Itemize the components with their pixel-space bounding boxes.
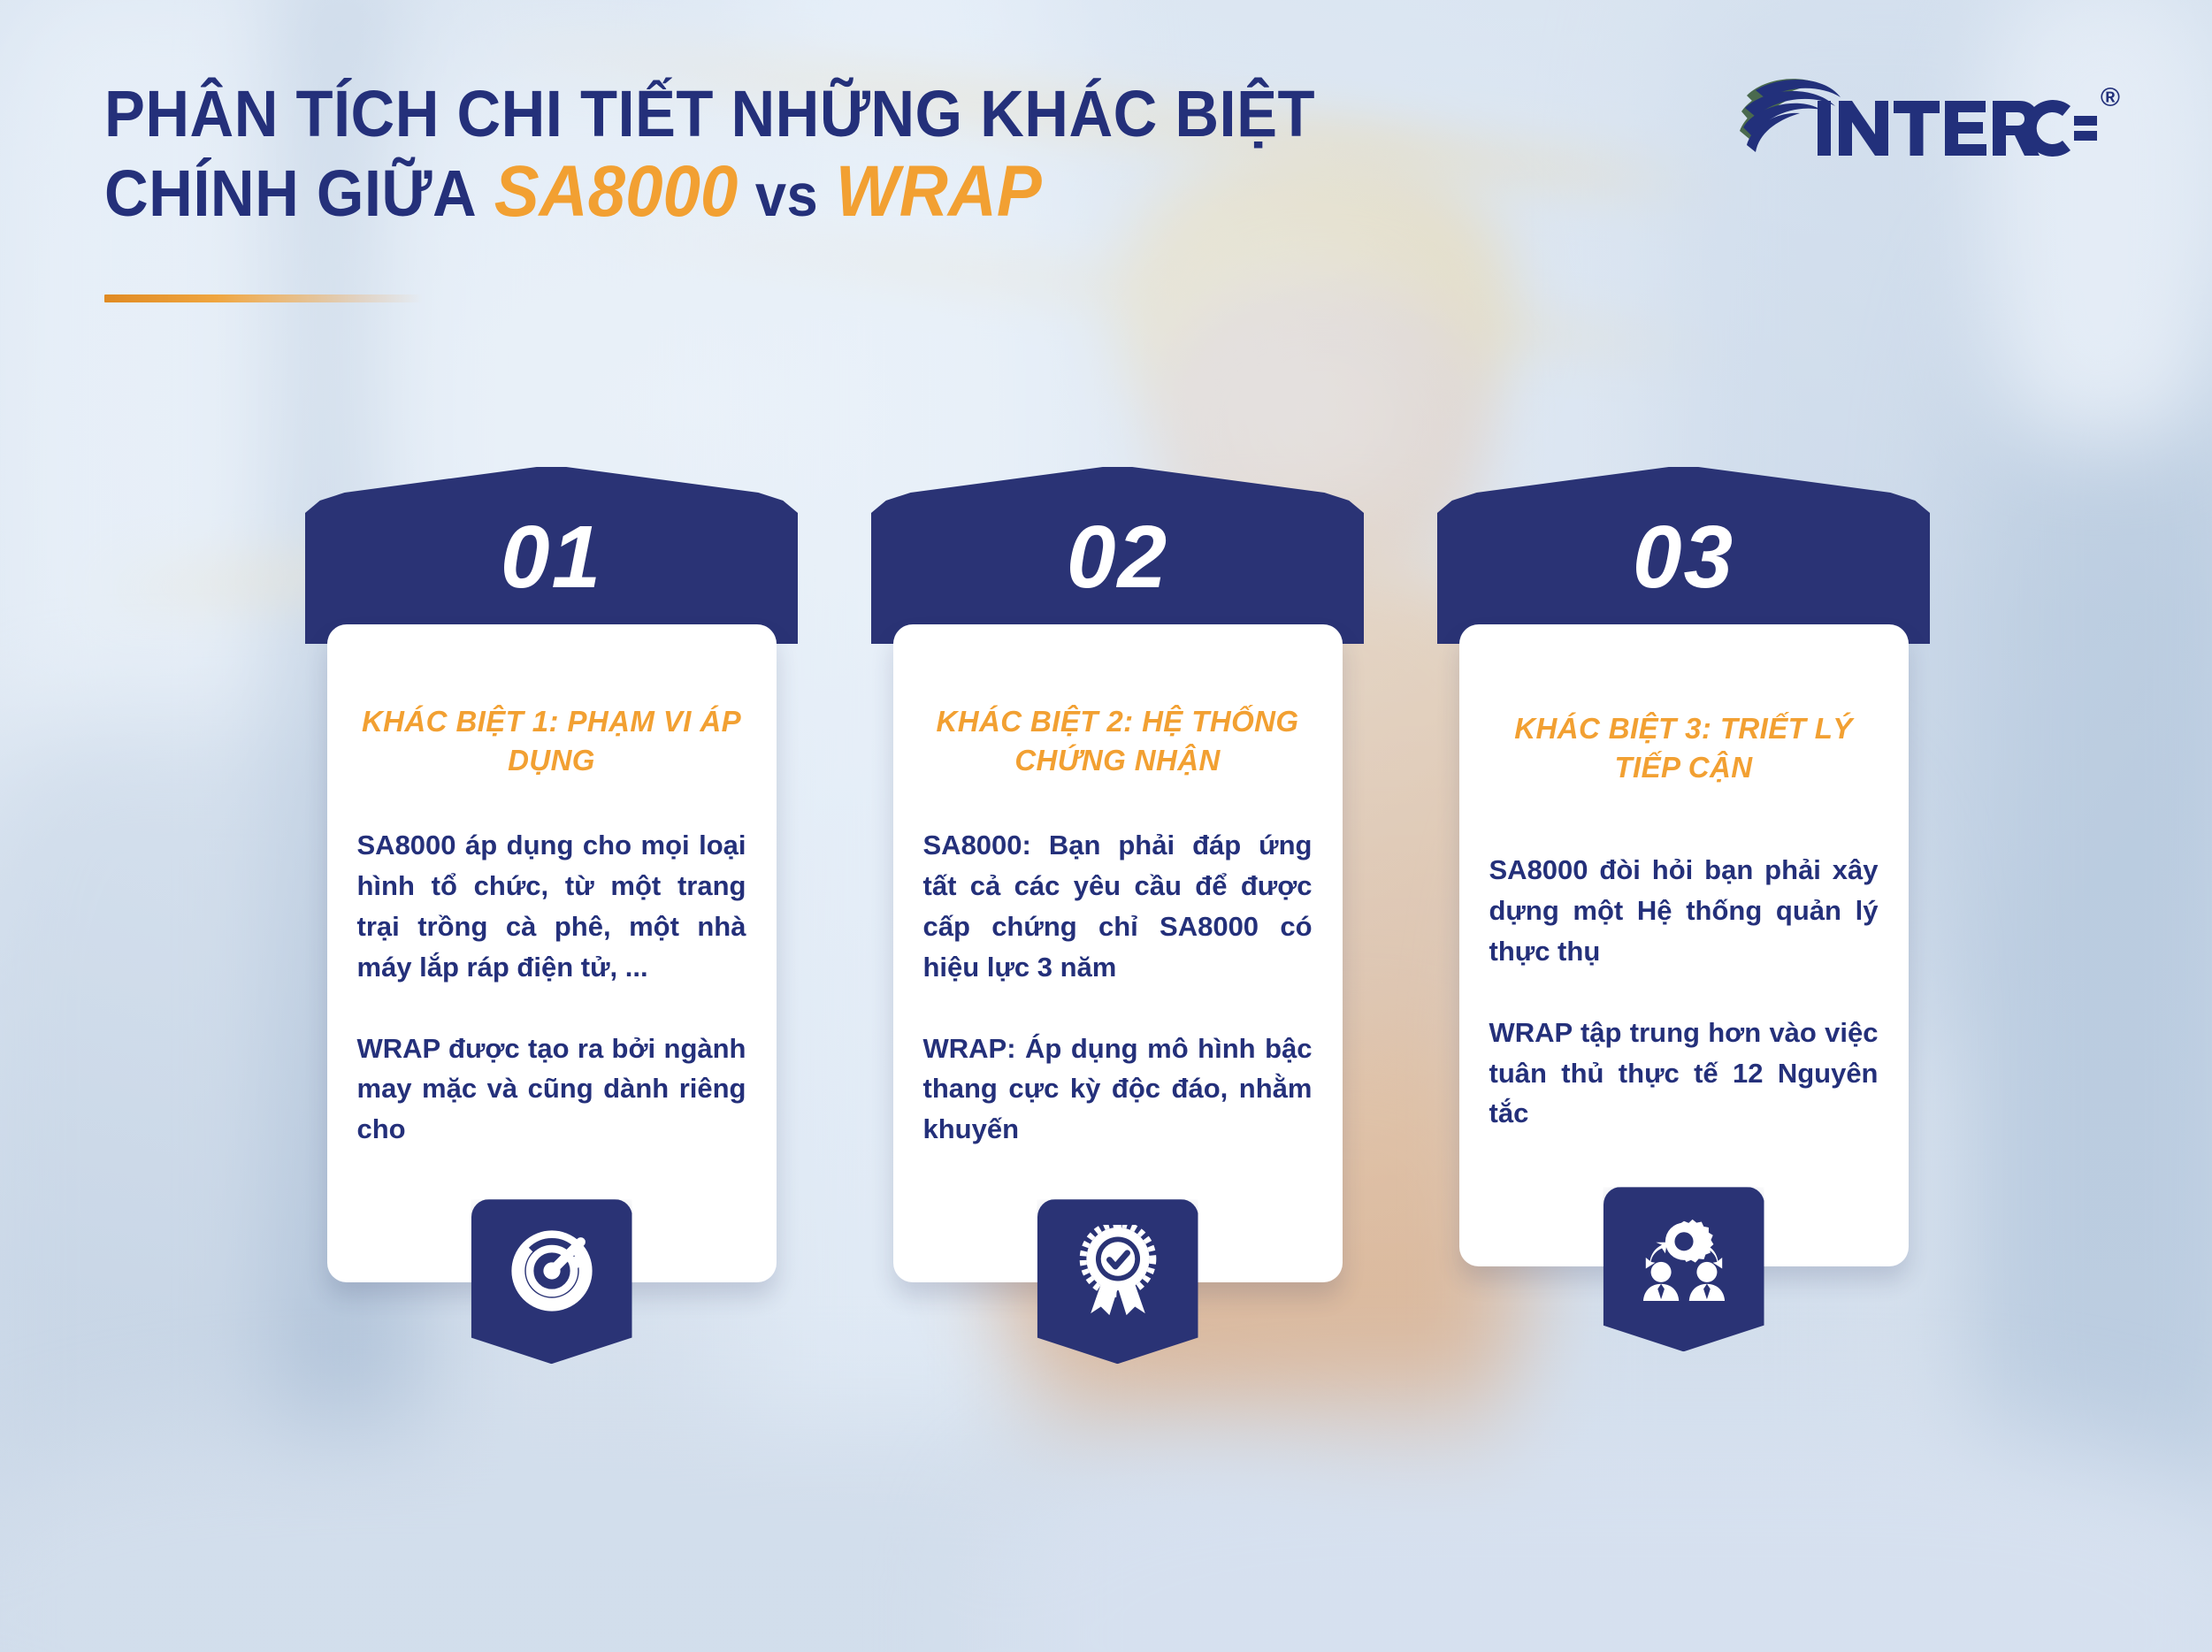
page-title-line-1: PHÂN TÍCH CHI TIẾT NHỮNG KHÁC BIỆT — [104, 78, 1974, 151]
award-ribbon-icon — [1075, 1225, 1161, 1317]
card-1-number: 01 — [305, 513, 798, 601]
standard-name-wrap: WRAP — [836, 151, 1042, 232]
card-3-body: KHÁC BIỆT 3: TRIẾT LÝ TIẾP CẬN SA8000 đò… — [1459, 624, 1909, 1266]
card-2-icon-badge — [1037, 1199, 1198, 1364]
card-1-paragraph-2: WRAP được tạo ra bởi ngành may mặc và cũ… — [357, 1029, 746, 1151]
card-3-title: KHÁC BIỆT 3: TRIẾT LÝ TIẾP CẬN — [1489, 709, 1879, 786]
card-3-paragraph-2: WRAP tập trung hơn vào việc tuân thủ thự… — [1489, 1013, 1879, 1135]
card-3-number: 03 — [1437, 513, 1930, 601]
card-1-header: 01 — [305, 467, 798, 644]
card-1-icon-badge — [471, 1199, 632, 1364]
card-2-title: KHÁC BIỆT 2: HỆ THỐNG CHỨNG NHẬN — [923, 702, 1313, 779]
infographic-page: PHÂN TÍCH CHI TIẾT NHỮNG KHÁC BIỆT CHÍNH… — [0, 0, 2212, 1652]
vs-label: vs — [755, 162, 818, 229]
card-2-header: 02 — [871, 467, 1364, 644]
registered-trademark-icon: ® — [2101, 83, 2120, 113]
cards-row: 01 KHÁC BIỆT 1: PHẠM VI ÁP DỤNG SA8000 á… — [0, 467, 2212, 1528]
page-title-prefix: CHÍNH GIỮA — [104, 157, 477, 230]
card-3-icon-badge — [1604, 1187, 1764, 1351]
card-1-paragraph-1: SA8000 áp dụng cho mọi loại hình tổ chức… — [357, 825, 746, 988]
intercert-logo[interactable]: ® — [1733, 69, 2124, 164]
card-2-body: KHÁC BIỆT 2: HỆ THỐNG CHỨNG NHẬN SA8000:… — [893, 624, 1343, 1282]
difference-card-1: 01 KHÁC BIỆT 1: PHẠM VI ÁP DỤNG SA8000 á… — [305, 467, 798, 1282]
card-3-paragraph-1: SA8000 đòi hỏi bạn phải xây dựng một Hệ … — [1489, 850, 1879, 972]
title-divider — [104, 294, 423, 302]
intercert-logo-mark — [1733, 69, 2104, 164]
card-2-number: 02 — [871, 513, 1364, 601]
standard-name-sa8000: SA8000 — [494, 151, 739, 232]
difference-card-2: 02 KHÁC BIỆT 2: HỆ THỐNG CHỨNG NHẬN SA80… — [871, 467, 1364, 1282]
card-2-paragraph-2: WRAP: Áp dụng mô hình bậc thang cực kỳ đ… — [923, 1029, 1313, 1151]
card-2-paragraph-1: SA8000: Bạn phải đáp ứng tất cả các yêu … — [923, 825, 1313, 988]
card-3-header: 03 — [1437, 467, 1930, 644]
team-gear-icon — [1638, 1216, 1730, 1301]
card-1-body: KHÁC BIỆT 1: PHẠM VI ÁP DỤNG SA8000 áp d… — [327, 624, 777, 1282]
card-1-title: KHÁC BIỆT 1: PHẠM VI ÁP DỤNG — [357, 702, 746, 779]
page-title-line-2: CHÍNH GIỮA SA8000 vs WRAP — [104, 151, 1974, 233]
difference-card-3: 03 KHÁC BIỆT 3: TRIẾT LÝ TIẾP CẬN SA8000… — [1437, 467, 1930, 1266]
target-icon — [509, 1228, 594, 1313]
